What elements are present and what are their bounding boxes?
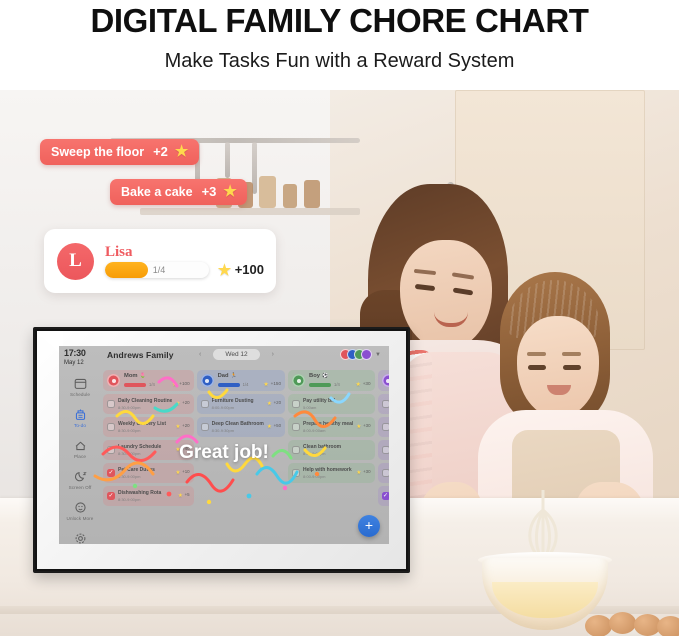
date-navigator: ‹ Wed 12 › [199, 349, 274, 360]
app-top-bar: 17:30 May 12 Andrews Family ‹ Wed 12 › [59, 346, 389, 368]
task-name: Pet Care Duties [118, 467, 172, 473]
progress-label: 1/4 [334, 382, 340, 387]
sidebar-item-label: To-do [74, 423, 86, 428]
task-points: ★ +30 [356, 469, 370, 477]
clock-date: May 12 [64, 360, 98, 366]
member-emoji-icon: ⚽ [322, 373, 328, 379]
star-icon: ★ [223, 184, 238, 199]
task-time: 8:30-9:00pm [118, 405, 172, 410]
progress-bar: 1/4 [105, 262, 209, 278]
star-icon: ★ [175, 448, 181, 454]
column-name-row: Boy⚽ [309, 373, 370, 379]
column-meta: Boy⚽1/4★ +30 [309, 373, 370, 388]
avatar-group[interactable]: ▼ [344, 349, 381, 360]
gear-icon [73, 531, 87, 544]
progress-bar [218, 383, 240, 387]
star-icon: ★ [355, 382, 361, 388]
moon-icon [73, 469, 87, 483]
task-row[interactable]: Daily Cleaning Routine8:30-9:00pm★ +20 [103, 394, 194, 414]
egg [657, 616, 679, 636]
task-row[interactable]: Prepare healthy meal8:00-9:00am★ +30 [288, 417, 374, 437]
sidebar-item-label: Unlock More [67, 516, 94, 521]
task-time: 8:00-9:00pm [303, 451, 370, 456]
task-points: ★ +30 [356, 423, 370, 431]
task-checkbox[interactable]: ✓ [382, 492, 389, 500]
task-name: Help with homework [303, 467, 353, 473]
task-points: ★ +50 [267, 423, 281, 431]
column-member-name: Dad [218, 373, 229, 379]
task-checkbox[interactable]: ✓ [107, 469, 115, 477]
task-checkbox[interactable] [201, 400, 209, 408]
chore-badge-label: Sweep the floor [51, 145, 144, 159]
tablet-device: 17:30 May 12 Andrews Family ‹ Wed 12 › [33, 327, 410, 573]
task-meta: Prepare healthy meal8:00-9:00am [303, 421, 353, 434]
star-icon: ★ [178, 494, 184, 500]
column-member-name: Mom [124, 373, 138, 379]
column-header-girl[interactable]: Girl🎨★ [378, 370, 389, 391]
task-row[interactable]: ✓Dishwashing Rota8:30-9:00pm★ +5 [103, 486, 194, 506]
girl-brow [527, 352, 546, 356]
star-icon: ★ [263, 382, 269, 388]
task-time: 8:00-9:00am [303, 428, 353, 433]
task-time: 8:30-9:00pm [118, 474, 172, 479]
clock-widget: 17:30 May 12 [64, 348, 98, 366]
progress-label: 1/4 [149, 382, 155, 387]
column-name-row: Mom🌷 [124, 373, 190, 379]
column-name-row: Dad🏃 [218, 373, 281, 379]
column-progress-row: 1/4★ +150 [218, 381, 281, 388]
sidebar-item-label: Place [74, 454, 86, 459]
spice-jar [283, 184, 297, 208]
task-checkbox[interactable] [382, 400, 389, 408]
column-points: ★ +100 [172, 381, 190, 388]
tablet-bezel: 17:30 May 12 Andrews Family ‹ Wed 12 › [37, 331, 406, 569]
task-row[interactable]: Bedtime routine8:00-9:00pm [378, 440, 389, 460]
task-row[interactable]: Pay utility bill5:00am [288, 394, 374, 414]
task-name: Daily Cleaning Routine [118, 398, 172, 404]
checklist-icon [73, 407, 87, 421]
column-header-dad[interactable]: Dad🏃1/4★ +150 [197, 370, 285, 391]
task-time: 8:30-9:00pm [118, 451, 172, 456]
column-header-mom[interactable]: Mom🌷1/4★ +100 [103, 370, 194, 391]
task-row[interactable]: Clean bathroom8:00-9:00pm [288, 440, 374, 460]
sidebar-item-unlock-more[interactable]: Unlock More [60, 500, 100, 521]
clock-time: 17:30 [64, 348, 98, 358]
task-meta: Pay utility bill5:00am [303, 398, 370, 411]
star-icon: ★ [218, 263, 233, 278]
task-checkbox[interactable]: ✓ [107, 492, 115, 500]
star-icon: ★ [175, 471, 181, 477]
progress-bar-fill [105, 262, 148, 278]
task-time: 8:00-9:00pm [212, 405, 264, 410]
task-row[interactable]: Weekly Grocery List8:30-9:00pm★ +20 [103, 417, 194, 437]
column-member-name: Boy [309, 373, 320, 379]
task-name: Pay utility bill [303, 398, 370, 404]
member-emoji-icon: 🏃 [231, 373, 237, 379]
task-name: Dishwashing Rota [118, 490, 175, 496]
task-checkbox[interactable] [382, 469, 389, 477]
task-points: ★ +5 [178, 492, 190, 500]
avatar-mini-girl [361, 349, 372, 360]
whisk-icon [520, 490, 566, 560]
task-points: ★ +20 [267, 400, 281, 408]
column-meta: Mom🌷1/4★ +100 [124, 373, 190, 388]
chore-column-girl: Girl🎨★ Do laundry8:00-9:00pmTrash duty8:… [378, 370, 389, 542]
sidebar-item-label: Screen Off [69, 485, 92, 490]
girl-brow [562, 352, 581, 356]
girl-eye [563, 365, 581, 370]
member-card-lisa[interactable]: L Lisa 1/4 ★+100 [44, 229, 276, 293]
star-icon: ★ [175, 402, 181, 408]
column-points: ★ +150 [263, 381, 281, 388]
chore-column-mom: Mom🌷1/4★ +100Daily Cleaning Routine8:30-… [103, 370, 194, 542]
star-icon: ★ [267, 425, 273, 431]
star-icon: ★ [356, 471, 362, 477]
task-checkbox[interactable] [107, 423, 115, 431]
chevron-down-icon[interactable]: ▼ [375, 352, 381, 358]
sidebar-item-label: Schedule [70, 392, 90, 397]
chevron-right-icon[interactable]: › [272, 351, 274, 358]
task-checkbox[interactable] [382, 423, 389, 431]
task-meta: Weekly Grocery List8:30-9:00pm [118, 421, 172, 434]
task-meta: Deep Clean Bathroom8:30-9:30pm [212, 421, 264, 434]
task-row[interactable]: Trash duty8:00-9:00pm [378, 417, 389, 437]
sidebar-item-to-do[interactable]: To-do [60, 407, 100, 428]
tablet-screen[interactable]: 17:30 May 12 Andrews Family ‹ Wed 12 › [59, 346, 389, 544]
task-meta: Help with homework8:00-9:00pm [303, 467, 353, 480]
spice-jar [304, 180, 320, 208]
sidebar-item-screen-off[interactable]: Screen Off [60, 469, 100, 490]
task-row[interactable]: Deep Clean Bathroom8:30-9:30pm★ +50 [197, 417, 285, 437]
sidebar-item-settings[interactable]: Settings [60, 531, 100, 544]
star-icon: ★ [267, 402, 273, 408]
spice-jar [259, 176, 276, 208]
star-icon: ★ [356, 425, 362, 431]
task-row[interactable]: Help with homework8:00-9:00pm★ +30 [288, 463, 374, 483]
column-header-boy[interactable]: Boy⚽1/4★ +30 [288, 370, 374, 391]
task-checkbox[interactable] [382, 446, 389, 454]
task-row[interactable]: Do laundry8:00-9:00pm [378, 394, 389, 414]
chore-badge-label: Bake a cake [121, 185, 193, 199]
shelf-board [140, 208, 360, 215]
member-name: Lisa [105, 244, 264, 261]
task-name: Weekly Grocery List [118, 421, 172, 427]
task-points: ★ +40 [175, 446, 189, 454]
chore-badge-sweep[interactable]: Sweep the floor +2 ★ [40, 139, 199, 165]
calendar-icon [73, 376, 87, 390]
current-date-label[interactable]: Wed 12 [213, 349, 259, 360]
member-reward: ★+100 [218, 262, 264, 278]
star-icon: ★ [175, 144, 190, 159]
task-points: ★ +10 [175, 469, 189, 477]
app-sidebar: ScheduleTo-doPlaceScreen OffUnlock MoreS… [59, 370, 101, 544]
hanging-utensil-icon [225, 142, 230, 178]
chore-badge-points: +2 [153, 144, 168, 159]
task-row[interactable]: Gardening8:00-9:00pm [378, 463, 389, 483]
task-checkbox[interactable] [292, 400, 300, 408]
avatar [382, 374, 389, 387]
task-checkbox[interactable] [292, 469, 300, 477]
task-row[interactable]: Furniture Dusting8:00-9:00pm★ +20 [197, 394, 285, 414]
smiley-icon [73, 500, 87, 514]
column-points: ★ +30 [355, 381, 370, 388]
task-meta: Clean bathroom8:00-9:00pm [303, 444, 370, 457]
sidebar-item-place[interactable]: Place [60, 438, 100, 459]
task-name: Clean bathroom [303, 444, 370, 450]
progress-label: 1/4 [243, 382, 249, 387]
task-name: Deep Clean Bathroom [212, 421, 264, 427]
task-row[interactable]: ✓Pet Care Duties8:30-9:00pm★ +10 [103, 463, 194, 483]
avatar: L [57, 243, 94, 280]
chevron-left-icon[interactable]: ‹ [199, 351, 201, 358]
chore-badge-bake[interactable]: Bake a cake +3 ★ [110, 179, 247, 205]
task-meta: Dishwashing Rota8:30-9:00pm [118, 490, 175, 503]
column-meta: Dad🏃1/4★ +150 [218, 373, 281, 388]
task-meta: Furniture Dusting8:00-9:00pm [212, 398, 264, 411]
progress-label: 1/4 [153, 262, 166, 278]
chore-columns: Mom🌷1/4★ +100Daily Cleaning Routine8:30-… [103, 370, 386, 542]
task-time: 8:30-9:00pm [118, 428, 172, 433]
task-name: Prepare healthy meal [303, 421, 353, 427]
sidebar-item-schedule[interactable]: Schedule [60, 376, 100, 397]
column-progress-row: 1/4★ +30 [309, 381, 370, 388]
avatar [201, 374, 214, 387]
task-row[interactable]: Laundry Schedule8:30-9:00pm★ +40 [103, 440, 194, 460]
add-task-button[interactable]: + [358, 515, 380, 537]
home-icon [73, 438, 87, 452]
star-icon: ★ [172, 382, 178, 388]
task-time: 8:30-9:00pm [118, 497, 175, 502]
poster-root: DIGITAL FAMILY CHORE CHART Make Tasks Fu… [0, 0, 679, 636]
task-time: 5:00am [303, 405, 370, 410]
page-title: DIGITAL FAMILY CHORE CHART [90, 2, 588, 40]
task-checkbox[interactable] [292, 446, 300, 454]
member-emoji-icon: 🌷 [140, 373, 146, 379]
task-meta: Daily Cleaning Routine8:30-9:00pm [118, 398, 172, 411]
task-name: Furniture Dusting [212, 398, 264, 404]
avatar [107, 374, 120, 387]
egg [585, 615, 612, 636]
family-name: Andrews Family [107, 350, 174, 360]
task-points: ★ +20 [175, 423, 189, 431]
avatar [292, 374, 305, 387]
task-meta: Pet Care Duties8:30-9:00pm [118, 467, 172, 480]
task-points: ★ +20 [175, 400, 189, 408]
girl-eye [528, 365, 546, 370]
task-time: 8:30-9:30pm [212, 428, 264, 433]
task-name: Laundry Schedule [118, 444, 172, 450]
progress-bar [309, 383, 331, 387]
progress-bar [124, 383, 146, 387]
member-progress-row: 1/4 ★+100 [105, 262, 264, 278]
chore-badge-points: +3 [202, 184, 217, 199]
member-card-body: Lisa 1/4 ★+100 [105, 244, 264, 279]
task-checkbox[interactable] [107, 400, 115, 408]
task-meta: Laundry Schedule8:30-9:00pm [118, 444, 172, 457]
column-progress-row: 1/4★ +100 [124, 381, 190, 388]
star-icon: ★ [175, 425, 181, 431]
task-time: 8:00-9:00pm [303, 474, 353, 479]
egg [609, 612, 636, 634]
member-reward-value: +100 [235, 262, 264, 277]
task-checkbox[interactable] [107, 446, 115, 454]
chore-column-dad: Dad🏃1/4★ +150Furniture Dusting8:00-9:00p… [197, 370, 285, 542]
task-checkbox[interactable] [292, 423, 300, 431]
task-row[interactable]: ✓Homework time8:00-9:00pm [378, 486, 389, 506]
task-checkbox[interactable] [201, 423, 209, 431]
poster-heading: DIGITAL FAMILY CHORE CHART Make Tasks Fu… [0, 0, 679, 90]
page-subtitle: Make Tasks Fun with a Reward System [165, 50, 515, 73]
